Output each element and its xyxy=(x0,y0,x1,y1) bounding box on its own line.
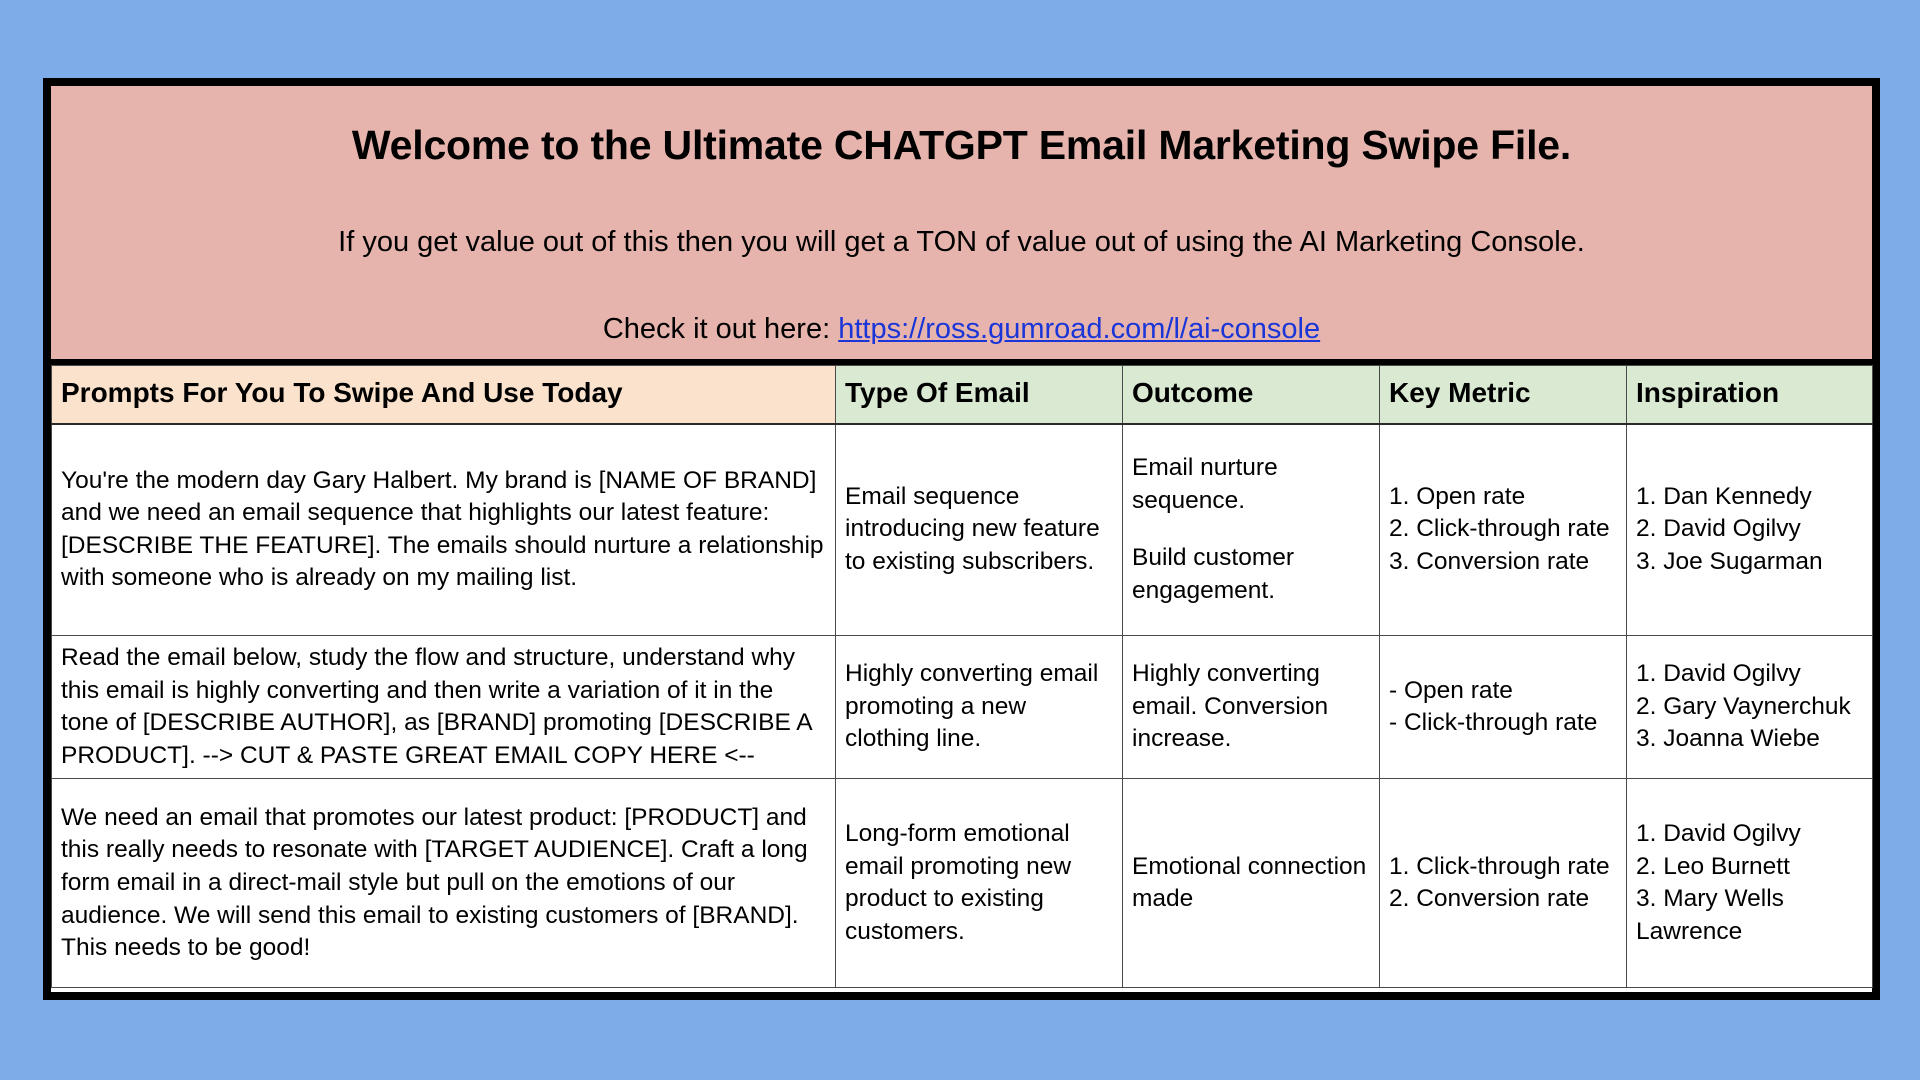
cell-prompt: You're the modern day Gary Halbert. My b… xyxy=(52,424,836,636)
ai-console-link[interactable]: https://ross.gumroad.com/l/ai-console xyxy=(838,313,1320,345)
cell-inspiration: 1. David Ogilvy 2. Gary Vaynerchuk 3. Jo… xyxy=(1627,636,1873,779)
cell-inspiration: 1. David Ogilvy 2. Leo Burnett 3. Mary W… xyxy=(1627,779,1873,988)
column-header-type-of-email: Type Of Email xyxy=(836,366,1123,424)
cell-type-of-email: Email sequence introducing new feature t… xyxy=(836,424,1123,636)
cell-type-of-email: Highly converting email promoting a new … xyxy=(836,636,1123,779)
cell-key-metric: 1. Click-through rate 2. Conversion rate xyxy=(1380,779,1627,988)
cell-prompt: We need an email that promotes our lates… xyxy=(52,779,836,988)
cell-outcome: Highly converting email. Conversion incr… xyxy=(1123,636,1380,779)
banner-cta: Check it out here: https://ross.gumroad.… xyxy=(91,312,1832,347)
cell-outcome-part2: Build customer engagement. xyxy=(1132,544,1294,604)
table-row: We need an email that promotes our lates… xyxy=(52,779,1873,988)
column-header-outcome: Outcome xyxy=(1123,366,1380,424)
cell-outcome: Emotional connection made xyxy=(1123,779,1380,988)
table-row: Read the email below, study the flow and… xyxy=(52,636,1873,779)
swipe-file-table: Prompts For You To Swipe And Use Today T… xyxy=(51,365,1873,988)
table-header: Prompts For You To Swipe And Use Today T… xyxy=(52,366,1873,424)
banner-subtitle: If you get value out of this then you wi… xyxy=(91,225,1832,260)
document-frame: Welcome to the Ultimate CHATGPT Email Ma… xyxy=(43,78,1880,1000)
cell-outcome: Email nurture sequence. Build customer e… xyxy=(1123,424,1380,636)
column-header-prompts: Prompts For You To Swipe And Use Today xyxy=(52,366,836,424)
cell-prompt: Read the email below, study the flow and… xyxy=(52,636,836,779)
table-header-row: Prompts For You To Swipe And Use Today T… xyxy=(52,366,1873,424)
cell-outcome-part1: Email nurture sequence. xyxy=(1132,454,1278,514)
banner-title: Welcome to the Ultimate CHATGPT Email Ma… xyxy=(91,122,1832,169)
table-body: You're the modern day Gary Halbert. My b… xyxy=(52,424,1873,988)
banner-cta-prefix: Check it out here: xyxy=(603,313,838,345)
cell-key-metric: 1. Open rate 2. Click-through rate 3. Co… xyxy=(1380,424,1627,636)
table-row: You're the modern day Gary Halbert. My b… xyxy=(52,424,1873,636)
cell-inspiration: 1. Dan Kennedy 2. David Ogilvy 3. Joe Su… xyxy=(1627,424,1873,636)
cell-type-of-email: Long-form emotional email promoting new … xyxy=(836,779,1123,988)
cell-key-metric: - Open rate - Click-through rate xyxy=(1380,636,1627,779)
column-header-inspiration: Inspiration xyxy=(1627,366,1873,424)
welcome-banner: Welcome to the Ultimate CHATGPT Email Ma… xyxy=(51,86,1872,365)
cell-outcome-spacer xyxy=(1132,517,1371,542)
column-header-key-metric: Key Metric xyxy=(1380,366,1627,424)
